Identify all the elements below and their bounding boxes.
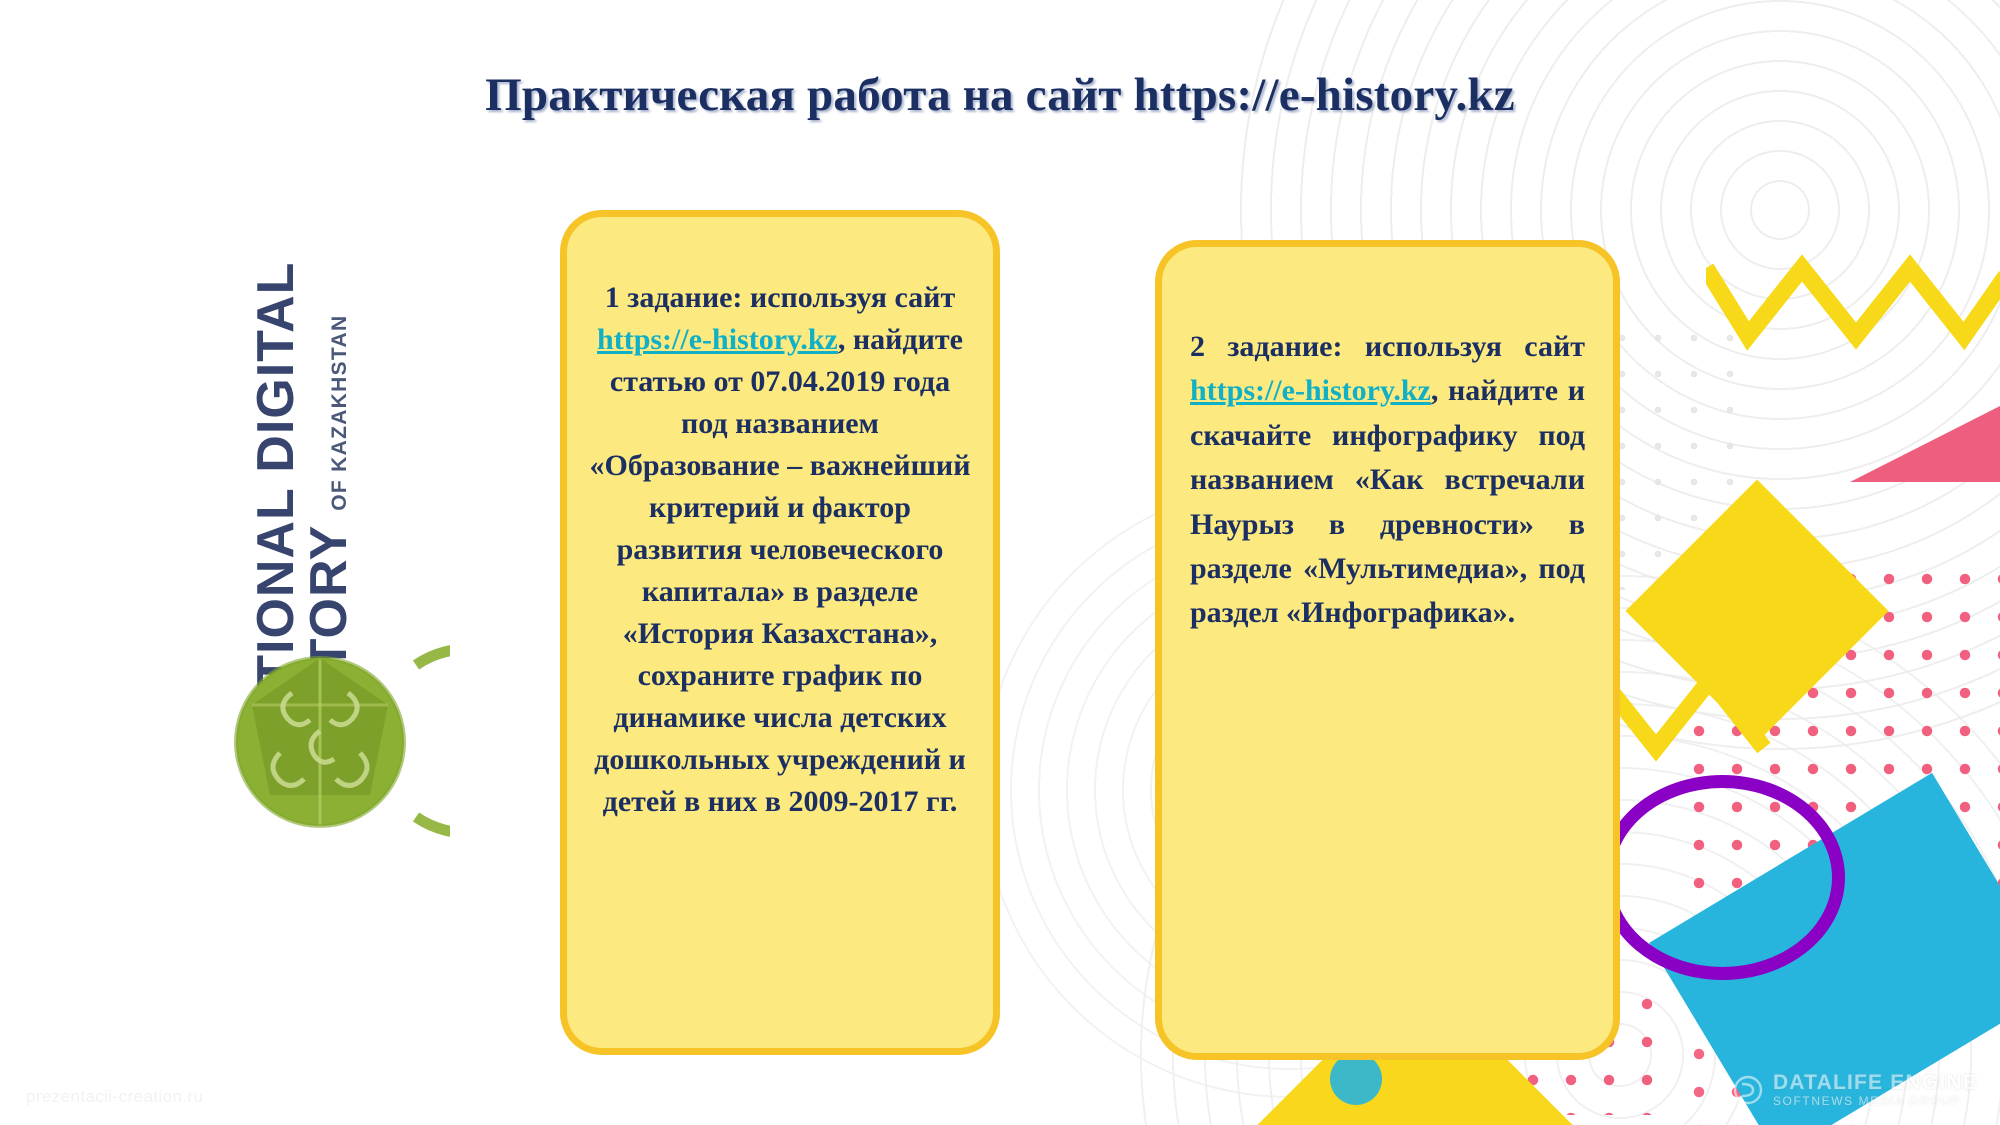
- cyan-small-circle-decoration: [1330, 1053, 1382, 1105]
- purple-circle-outline-decoration: [1600, 775, 1845, 980]
- task-1-text-before-link: 1 задание: используя сайт: [605, 281, 955, 314]
- task-1-link[interactable]: https://e-history.kz: [597, 323, 838, 356]
- pink-dot-grid-decoration: [1680, 560, 2000, 890]
- datalife-logo-icon: [1733, 1075, 1763, 1105]
- yellow-diamond-decoration: [1625, 479, 1888, 742]
- source-watermark-left: prezentacii-creation.ru: [26, 1087, 203, 1107]
- slide-canvas: Практическая работа на сайт https://e-hi…: [0, 0, 2000, 1125]
- kazakh-ornament-circle-icon: [220, 635, 450, 850]
- task-2-text-after-link: , найдите и скачайте инфографику под наз…: [1190, 374, 1585, 629]
- logo-subtitle: OF KAZAKHSTAN: [329, 315, 356, 511]
- task-2-text: 2 задание: используя сайт https://e-hist…: [1190, 325, 1585, 636]
- datalife-title: DATALIFE ENGINE: [1773, 1071, 1978, 1095]
- datalife-subtitle: SOFTNEWS MEDIA GROUP: [1773, 1095, 1978, 1109]
- task-card-1: 1 задание: используя сайт https://e-hist…: [560, 210, 1000, 1055]
- datalife-engine-watermark: DATALIFE ENGINE SOFTNEWS MEDIA GROUP: [1733, 1071, 1978, 1109]
- datalife-watermark-text: DATALIFE ENGINE SOFTNEWS MEDIA GROUP: [1773, 1071, 1978, 1109]
- task-1-text-after-link: , найдите статью от 07.04.2019 года под …: [590, 323, 971, 818]
- yellow-zigzag-decoration-top: [1706, 252, 2000, 362]
- national-digital-history-logo: NATIONAL DIGITAL HISTORY OF KAZAKHSTAN: [255, 235, 485, 835]
- pink-triangle-decoration: [1850, 406, 2000, 482]
- task-2-link[interactable]: https://e-history.kz: [1190, 374, 1431, 407]
- task-2-text-before-link: 2 задание: используя сайт: [1190, 330, 1585, 363]
- task-1-text: 1 задание: используя сайт https://e-hist…: [589, 277, 971, 823]
- task-card-2: 2 задание: используя сайт https://e-hist…: [1155, 240, 1620, 1060]
- page-title: Практическая работа на сайт https://e-hi…: [0, 68, 2000, 122]
